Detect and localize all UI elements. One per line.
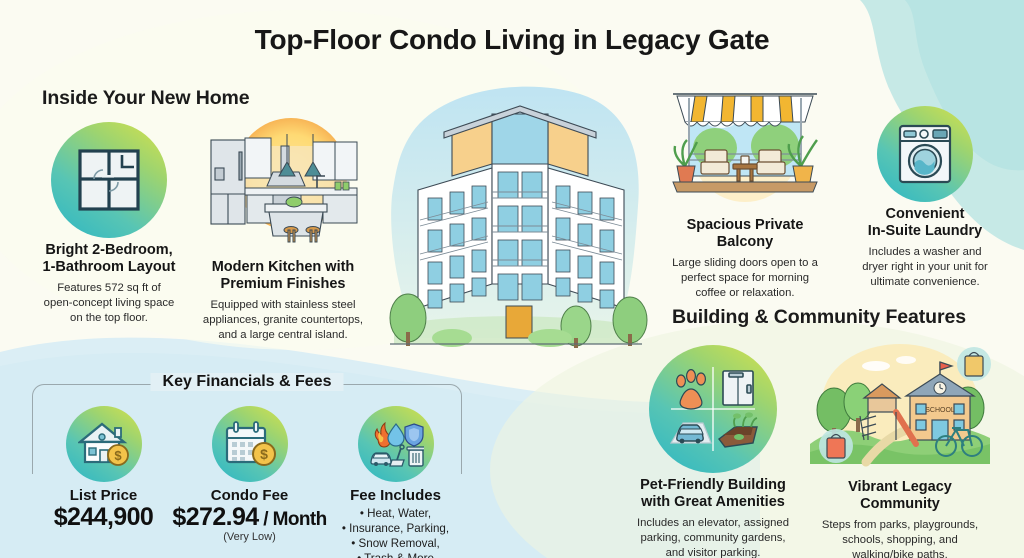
svg-text:SCHOOL: SCHOOL	[925, 407, 955, 414]
feature-description: Equipped with stainless steel appliances…	[190, 298, 376, 343]
section-heading-building: Building & Community Features	[672, 306, 966, 329]
financial-value: $272.94 / Month	[172, 504, 327, 530]
list-item: • Insurance, Parking,	[328, 521, 463, 536]
feature-card-laundry: Convenient In-Suite Laundry Includes a w…	[845, 106, 1005, 290]
financial-label: Fee Includes	[328, 487, 463, 504]
feature-title: Convenient In-Suite Laundry	[845, 206, 1005, 240]
calendar-coin-glyph: $	[223, 420, 277, 468]
community-illustration: SCHOOL	[806, 340, 994, 472]
feature-description: Includes a washer and dryer right in you…	[845, 245, 1005, 290]
feature-card-balcony: Spacious Private Balcony Large sliding d…	[655, 86, 835, 301]
washing-machine-glyph	[896, 123, 954, 185]
utilities-icon-cluster	[358, 406, 434, 482]
feature-title: Bright 2-Bedroom, 1-Bathroom Layout	[22, 242, 196, 276]
fee-includes-list: • Heat, Water, • Insurance, Parking, • S…	[328, 506, 463, 558]
calendar-with-coin-icon: $	[212, 406, 288, 482]
feature-card-community: SCHOOL	[806, 340, 994, 558]
feature-title: Spacious Private Balcony	[655, 217, 835, 251]
feature-title: Modern Kitchen with Premium Finishes	[190, 259, 376, 293]
balcony-illustration	[655, 86, 835, 208]
page-title: Top-Floor Condo Living in Legacy Gate	[0, 24, 1024, 56]
financial-note: (Very Low)	[172, 531, 327, 543]
house-with-coin-icon: $	[66, 406, 142, 482]
elevator-icon	[723, 371, 753, 405]
section-heading-inside: Inside Your New Home	[42, 87, 250, 110]
utilities-glyph	[368, 420, 424, 468]
svg-text:$: $	[260, 446, 268, 462]
financial-list-price: $ List Price $244,900	[36, 406, 171, 530]
financial-value: $244,900	[36, 504, 171, 530]
amenities-quad-glyph	[663, 359, 763, 459]
feature-title: Pet-Friendly Building with Great Ameniti…	[620, 477, 806, 511]
list-item: • Heat, Water,	[328, 506, 463, 521]
infographic-canvas: Top-Floor Condo Living in Legacy Gate In…	[0, 0, 1024, 558]
feature-title: Vibrant Legacy Community	[806, 479, 994, 513]
financial-label: Condo Fee	[172, 487, 327, 504]
feature-description: Includes an elevator, assigned parking, …	[620, 516, 806, 558]
financial-fee-includes: Fee Includes • Heat, Water, • Insurance,…	[328, 406, 463, 558]
feature-description: Large sliding doors open to a perfect sp…	[655, 256, 835, 301]
floor-plan-icon	[51, 122, 167, 238]
car-icon	[371, 453, 391, 466]
amenities-quad-icon	[649, 345, 777, 473]
feature-description: Features 572 sq ft of open-concept livin…	[22, 281, 196, 326]
feature-description: Steps from parks, playgrounds, schools, …	[806, 518, 994, 558]
water-drop-icon	[388, 424, 404, 446]
snow-shovel-icon	[390, 445, 404, 466]
list-item: • Trash & More	[328, 551, 463, 558]
kitchen-illustration	[195, 112, 371, 248]
list-item: • Snow Removal,	[328, 536, 463, 551]
car-icon	[671, 423, 711, 443]
key-financials-panel: Key Financials & Fees $ List Price	[32, 384, 462, 534]
paw-icon	[677, 370, 706, 409]
house-coin-glyph: $	[78, 420, 130, 468]
shield-icon	[405, 424, 423, 446]
svg-text:$: $	[114, 448, 122, 463]
financial-label: List Price	[36, 487, 171, 504]
financial-condo-fee: $ Condo Fee $272.94 / Month (Very Low)	[172, 406, 327, 543]
washing-machine-icon	[877, 106, 973, 202]
feature-card-kitchen: Modern Kitchen with Premium Finishes Equ…	[190, 112, 376, 343]
floor-plan-glyph	[74, 145, 144, 215]
financials-heading: Key Financials & Fees	[151, 373, 344, 391]
feature-card-pet-friendly: Pet-Friendly Building with Great Ameniti…	[620, 345, 806, 558]
garden-bed-icon	[719, 412, 757, 447]
condo-building-illustration	[380, 76, 652, 368]
feature-card-layout: Bright 2-Bedroom, 1-Bathroom Layout Feat…	[22, 122, 196, 326]
trash-can-icon	[407, 447, 424, 466]
